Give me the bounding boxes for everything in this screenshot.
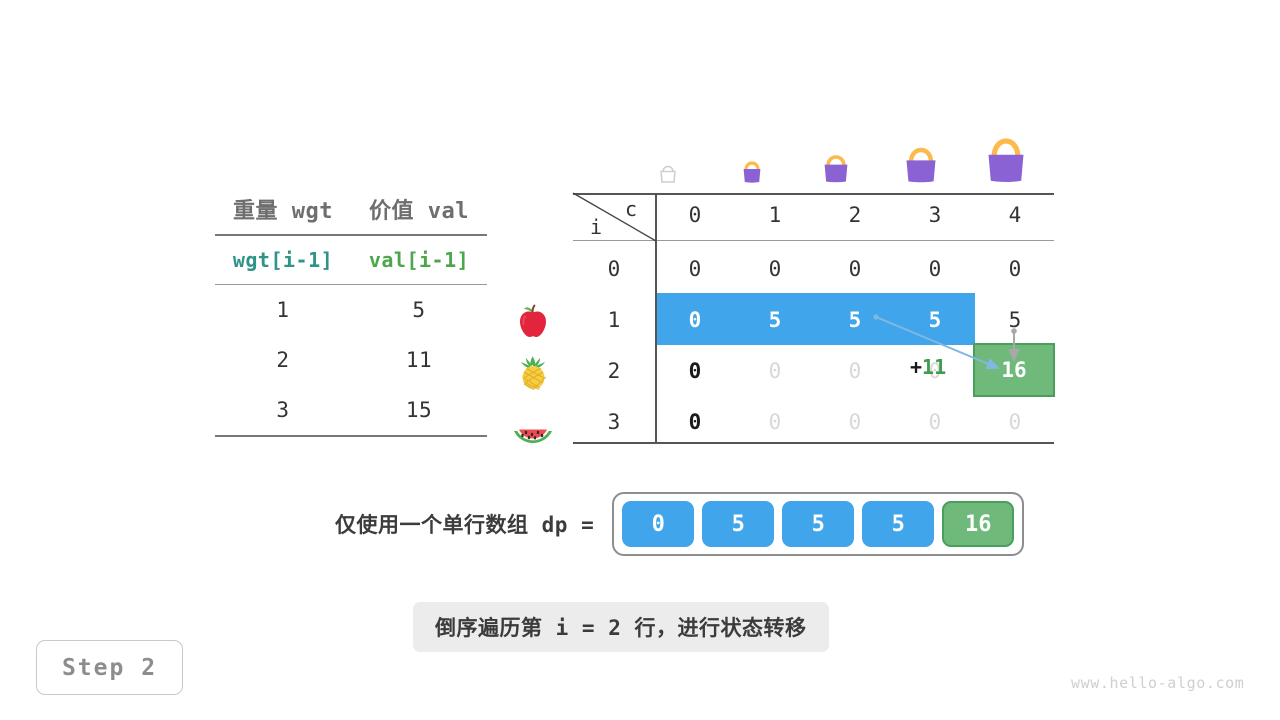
item-row-0-val: 5 [351, 285, 487, 335]
item-row-1-val: 11 [351, 335, 487, 385]
dp-array-cell-3: 5 [862, 501, 934, 547]
dp-array-cell-0: 0 [622, 501, 694, 547]
plus-value: 11 [922, 355, 946, 379]
dp-array-cell-2: 5 [782, 501, 854, 547]
item-table-rule-bottom [215, 435, 487, 437]
table-row: 2 11 [215, 335, 487, 385]
watermark: www.hello-algo.com [1071, 674, 1244, 692]
table-row: 3 15 [215, 385, 487, 435]
item-table-subheader-val: val[i-1] [351, 236, 487, 284]
fruit-icon-column [505, 296, 561, 448]
item-table-header-val: 价值 val [351, 190, 487, 234]
item-table-header-row: 重量 wgt 价值 val [215, 190, 487, 234]
caption-text: 倒序遍历第 i = 2 行，进行状态转移 [413, 602, 829, 652]
item-table: 重量 wgt 价值 val wgt[i-1] val[i-1] 1 5 2 11… [215, 190, 487, 437]
bag-3-icon [895, 142, 975, 184]
bag-2-icon [815, 150, 895, 184]
pineapple-icon [505, 347, 561, 397]
dp-array-cell-1: 5 [702, 501, 774, 547]
item-row-0-wgt: 1 [215, 285, 351, 335]
item-row-2-wgt: 3 [215, 385, 351, 435]
item-table-header-wgt: 重量 wgt [215, 190, 351, 234]
plus-value-label: +11 [910, 355, 946, 379]
bag-icon-row [655, 128, 1055, 184]
dp-array-label: 仅使用一个单行数组 dp = [335, 509, 594, 539]
dp-matrix: c i 0 1 2 3 4 0 1 2 3 0 0 0 0 0 0 5 5 5 … [573, 193, 1054, 444]
step-badge: Step 2 [36, 640, 183, 695]
watermelon-icon [505, 398, 561, 448]
apple-icon [505, 296, 561, 346]
item-table-subheader-row: wgt[i-1] val[i-1] [215, 236, 487, 284]
dp-array-container: 0 5 5 5 16 [612, 492, 1024, 556]
bag-4-icon [975, 132, 1055, 184]
table-row: 1 5 [215, 285, 487, 335]
dp-array-section: 仅使用一个单行数组 dp = 0 5 5 5 16 [335, 492, 1024, 556]
slide-canvas: 重量 wgt 价值 val wgt[i-1] val[i-1] 1 5 2 11… [0, 0, 1280, 720]
item-row-1-wgt: 2 [215, 335, 351, 385]
bag-empty-icon [655, 162, 735, 184]
item-table-subheader-wgt: wgt[i-1] [215, 236, 351, 284]
bag-1-icon [735, 156, 815, 184]
transition-arrows [573, 193, 1054, 444]
item-row-2-val: 15 [351, 385, 487, 435]
dp-array-cell-4: 16 [942, 501, 1014, 547]
plus-sign: + [910, 355, 922, 379]
